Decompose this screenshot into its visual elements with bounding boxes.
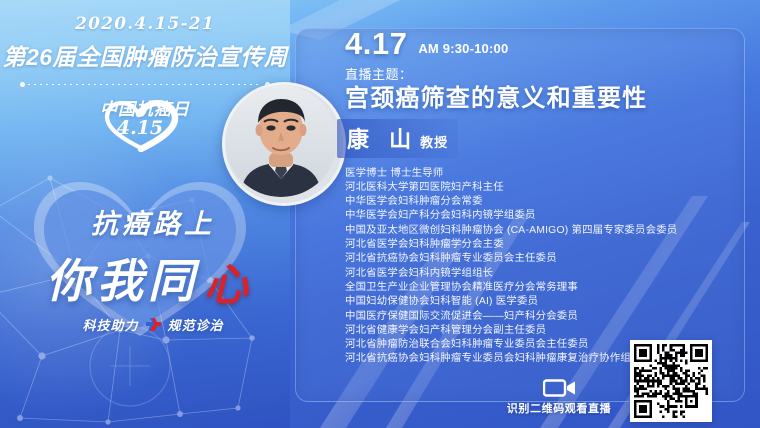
slogan-footer-right: 规范诊治 (168, 315, 224, 334)
speaker-credentials-list: 医学博士 博士生导师河北医科大学第四医院妇产科主任中华医学会妇科肿瘤分会常委中华… (345, 167, 745, 367)
credential-item: 河北省医学会妇科肿瘤学分会主委 (345, 238, 745, 252)
divider-dot-left (20, 82, 25, 87)
slogan-footer-left: 科技助力 (82, 315, 138, 334)
topic-label: 直播主题： (345, 64, 745, 83)
slogan-block: 抗癌路上 你我同 心 科技助力 规范诊治 (28, 176, 278, 361)
credential-item: 中国及亚太地区微创妇科肿瘤协会 (CA-AMIGO) 第四届专家委员会委员 (345, 224, 745, 238)
heart-logo-icon: 4.15 (95, 100, 195, 152)
credential-item: 中华医学会妇科肿瘤分会常委 (345, 195, 745, 209)
credential-item: 全国卫生产业企业管理协会精准医疗分会常务理事 (345, 281, 745, 295)
credential-item: 河北省抗癌协会妇科肿瘤专业委员会主任委员 (345, 252, 745, 266)
credential-item: 河北医科大学第四医院妇产科主任 (345, 181, 745, 195)
video-camera-icon (543, 378, 577, 398)
poster-root: 2020.4.15-21 第26届全国肿瘤防治宣传周 中国抗癌日 4.15 抗癌… (0, 0, 760, 428)
slogan-line-2: 你我同 心 (28, 245, 278, 309)
speaker-title: 教授 (420, 135, 448, 150)
campaign-title: 第26届全国肿瘤防治宣传周 (0, 38, 290, 72)
session-topic: 宫颈癌筛查的意义和重要性 (345, 85, 745, 113)
dotted-divider (20, 81, 270, 88)
medical-cross-icon (146, 318, 161, 331)
slogan-footer: 科技助力 规范诊治 (28, 315, 278, 334)
credential-item: 河北省健康学会妇产科管理分会副主任委员 (345, 324, 745, 338)
slogan-line-2-white: 你我同 (46, 245, 199, 311)
credential-item: 河北省医学会妇科内镜学组组长 (345, 267, 745, 281)
qr-caption: 识别二维码观看直播 (498, 400, 620, 416)
session-datetime-row: 4.17 AM 9:30-10:00 (345, 28, 745, 59)
credential-item: 中国医疗保健国际交流促进会——妇产科分会委员 (345, 310, 745, 324)
slogan-line-1: 抗癌路上 (28, 202, 278, 241)
divider-dots (28, 84, 262, 85)
campaign-date-range: 2020.4.15-21 (0, 14, 290, 34)
credential-item: 医学博士 博士生导师 (345, 167, 745, 181)
credential-item: 中国妇幼保健协会妇科智能 (AI) 医学委员 (345, 295, 745, 309)
session-date: 4.17 (345, 28, 407, 59)
live-stream-qr-code[interactable] (630, 340, 712, 422)
heart-logo-text: 4.15 (117, 117, 163, 139)
session-info: 4.17 AM 9:30-10:00 直播主题： 宫颈癌筛查的意义和重要性 康 … (345, 28, 745, 383)
speaker-name-bar: 康 山教授 (337, 119, 458, 158)
slogan-line-2-red: 心 (204, 249, 248, 313)
speaker-portrait (222, 82, 346, 206)
credential-item: 中华医学会妇产科分会妇科内镜学组委员 (345, 209, 745, 223)
speaker-name: 康 山 (347, 127, 418, 152)
session-time: AM 9:30-10:00 (418, 41, 508, 59)
